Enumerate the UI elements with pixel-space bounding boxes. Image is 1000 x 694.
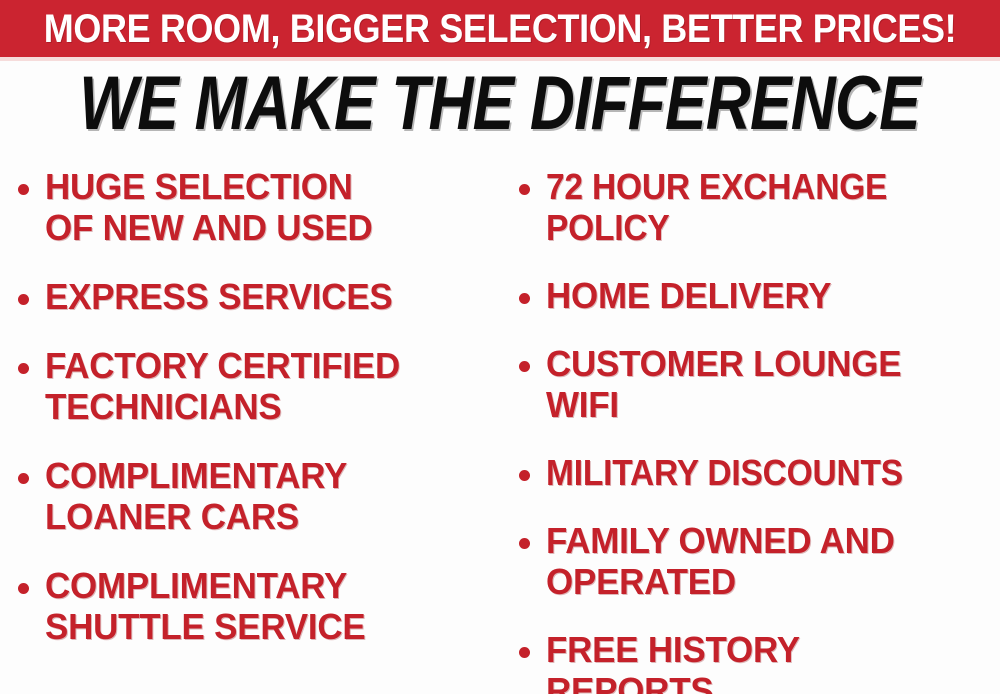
banner-headline-text: MORE ROOM, BIGGER SELECTION, BETTER PRIC… bbox=[44, 9, 957, 49]
bullet-dot-icon bbox=[18, 184, 29, 195]
promo-poster: MORE ROOM, BIGGER SELECTION, BETTER PRIC… bbox=[0, 0, 1000, 694]
benefits-columns: HUGE SELECTION OF NEW AND USED EXPRESS S… bbox=[0, 160, 1000, 694]
list-item: CUSTOMER LOUNGE WIFI bbox=[519, 343, 1000, 425]
bullet-dot-icon bbox=[18, 473, 29, 484]
list-item: MILITARY DISCOUNTS bbox=[519, 452, 1000, 493]
bullet-dot-icon bbox=[18, 294, 29, 305]
benefit-text-huge-selection: HUGE SELECTION OF NEW AND USED bbox=[45, 166, 373, 248]
list-item: FAMILY OWNED AND OPERATED bbox=[519, 520, 1000, 602]
bullet-dot-icon bbox=[519, 647, 530, 658]
benefit-text-free-history-reports: FREE HISTORY REPORTS bbox=[546, 629, 800, 694]
list-item: HOME DELIVERY bbox=[519, 275, 1000, 316]
bullet-dot-icon bbox=[519, 538, 530, 549]
list-item: FREE HISTORY REPORTS bbox=[519, 629, 1000, 694]
benefit-text-express-services: EXPRESS SERVICES bbox=[45, 276, 393, 317]
bullet-dot-icon bbox=[519, 293, 530, 304]
list-item: COMPLIMENTARY LOANER CARS bbox=[18, 455, 500, 537]
bullet-dot-icon bbox=[519, 184, 530, 195]
top-banner: MORE ROOM, BIGGER SELECTION, BETTER PRIC… bbox=[0, 0, 1000, 57]
list-item: 72 HOUR EXCHANGE POLICY bbox=[519, 166, 1000, 248]
bullet-dot-icon bbox=[519, 470, 530, 481]
bullet-dot-icon bbox=[18, 583, 29, 594]
list-item: COMPLIMENTARY SHUTTLE SERVICE bbox=[18, 565, 500, 647]
main-headline: WE MAKE THE DIFFERENCE bbox=[80, 66, 921, 142]
list-item: FACTORY CERTIFIED TECHNICIANS bbox=[18, 345, 500, 427]
benefit-text-family-owned-and-operated: FAMILY OWNED AND OPERATED bbox=[546, 520, 895, 602]
benefit-text-home-delivery: HOME DELIVERY bbox=[546, 275, 831, 316]
bullet-dot-icon bbox=[519, 361, 530, 372]
benefit-text-complimentary-loaner-cars: COMPLIMENTARY LOANER CARS bbox=[45, 455, 347, 537]
bullet-dot-icon bbox=[18, 363, 29, 374]
headline-container: WE MAKE THE DIFFERENCE bbox=[0, 66, 1000, 142]
benefit-text-customer-lounge-wifi: CUSTOMER LOUNGE WIFI bbox=[546, 343, 901, 425]
benefits-column-right: 72 HOUR EXCHANGE POLICY HOME DELIVERY CU… bbox=[500, 160, 1000, 694]
benefit-text-complimentary-shuttle-service: COMPLIMENTARY SHUTTLE SERVICE bbox=[45, 565, 365, 647]
list-item: EXPRESS SERVICES bbox=[18, 276, 500, 317]
benefit-text-military-discounts: MILITARY DISCOUNTS bbox=[546, 452, 903, 493]
benefits-column-left: HUGE SELECTION OF NEW AND USED EXPRESS S… bbox=[0, 160, 500, 694]
benefit-text-factory-certified-technicians: FACTORY CERTIFIED TECHNICIANS bbox=[45, 345, 400, 427]
list-item: HUGE SELECTION OF NEW AND USED bbox=[18, 166, 500, 248]
benefit-text-72-hour-exchange-policy: 72 HOUR EXCHANGE POLICY bbox=[546, 166, 887, 248]
